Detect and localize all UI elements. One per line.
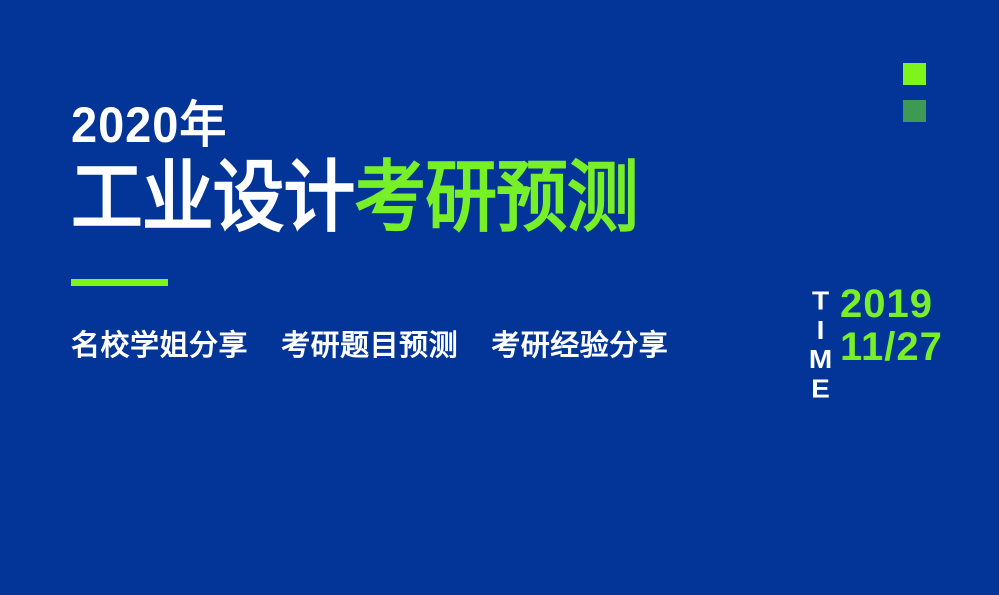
subtitle-part-3: 考研经验分享	[491, 330, 668, 362]
page-title-segment-white: 工业设计	[71, 153, 354, 241]
subtitle: 名校学姐分享 考研题目预测 考研经验分享	[71, 329, 668, 364]
time-year: 2019	[840, 284, 943, 324]
time-vertical-label: TIME	[806, 286, 834, 363]
page-title-segment-green: 考研预测	[354, 153, 637, 241]
headline-block: 2020年 工业设计考研预测	[71, 100, 771, 236]
green-divider-rule	[71, 279, 168, 286]
time-date: 11/27	[840, 327, 943, 367]
green-square-muted-icon	[903, 100, 926, 122]
subtitle-part-1: 名校学姐分享	[71, 330, 248, 362]
year-label: 2020年	[71, 100, 729, 150]
subtitle-part-2: 考研题目预测	[281, 330, 458, 362]
time-date-stack: 2019 11/27	[840, 284, 943, 367]
poster-canvas: 2020年 工业设计考研预测 名校学姐分享 考研题目预测 考研经验分享 TIME…	[0, 0, 999, 595]
time-block: TIME 2019 11/27	[806, 283, 943, 367]
page-title: 工业设计考研预测	[71, 158, 715, 236]
green-square-bright-icon	[903, 63, 926, 85]
